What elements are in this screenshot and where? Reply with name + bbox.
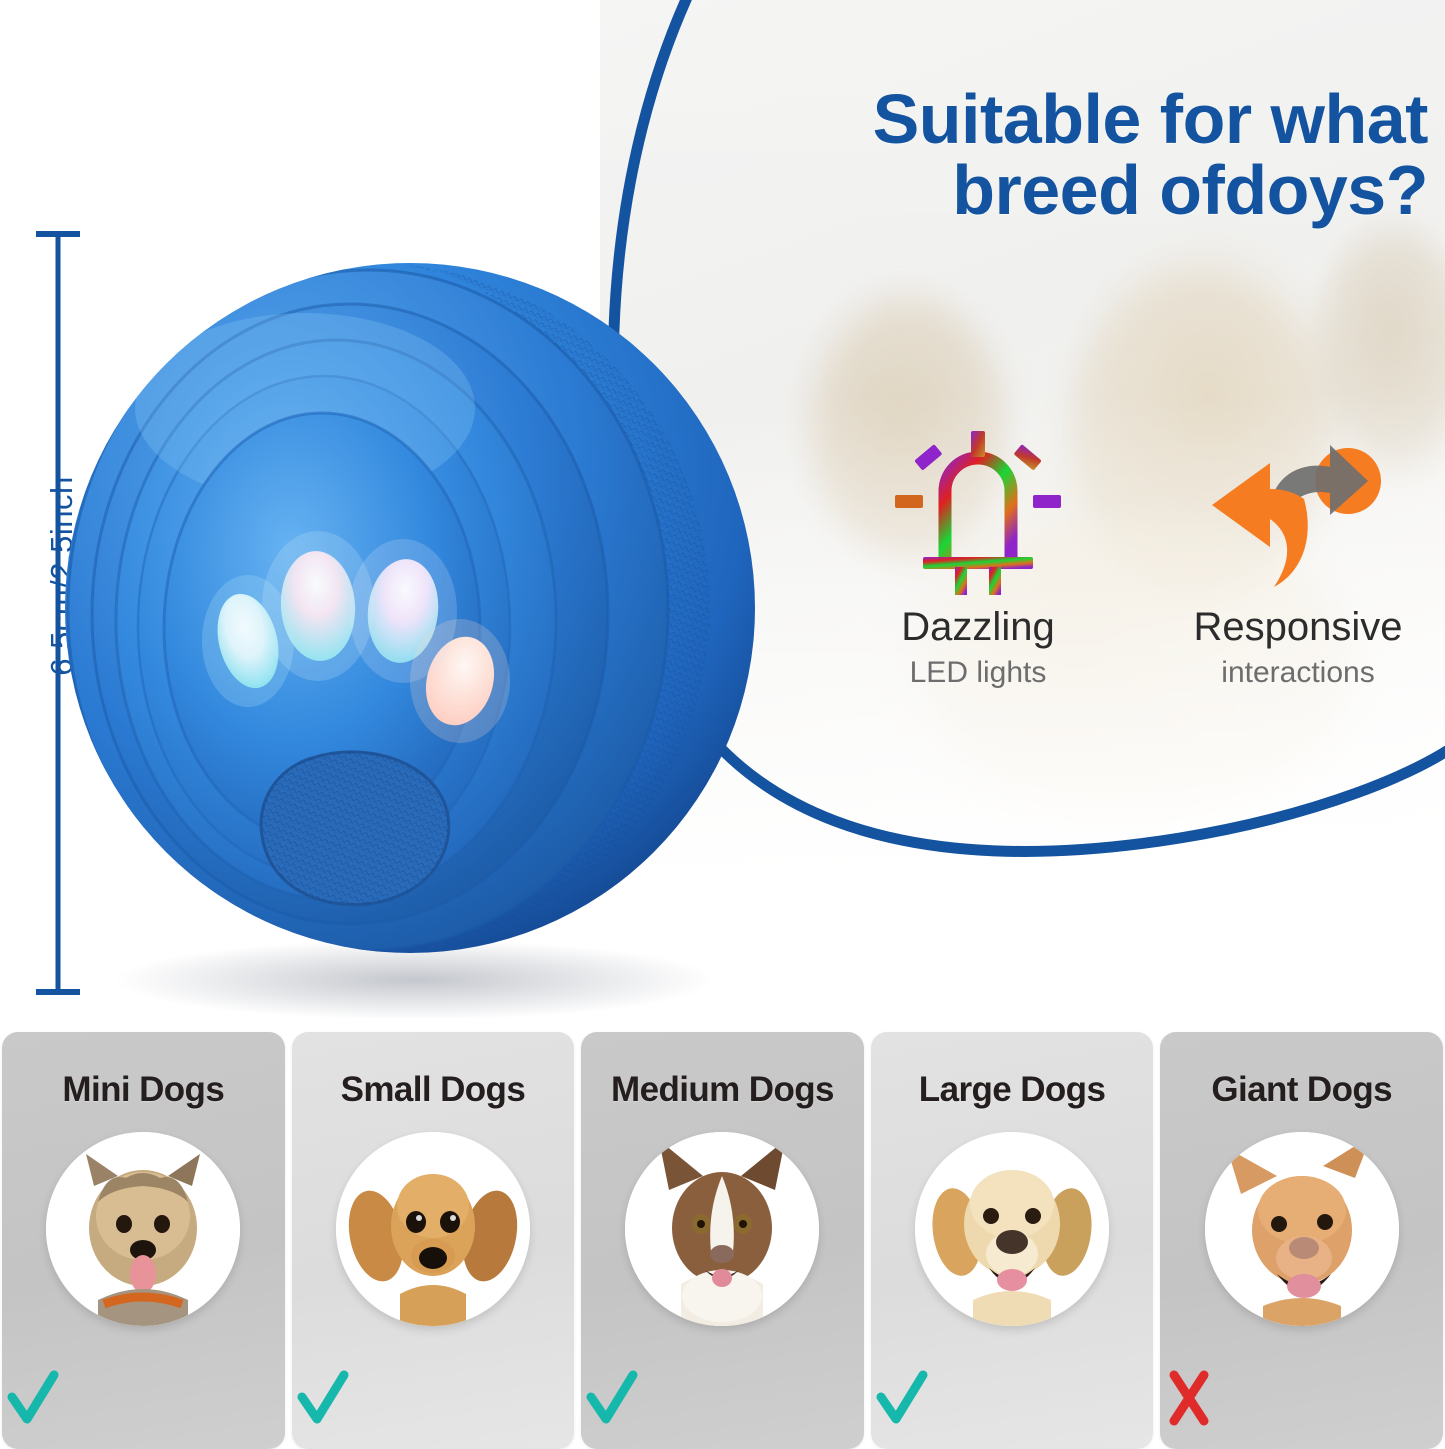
- check-icon: [2, 1369, 62, 1427]
- feature-dazzling: Dazzling LED lights: [848, 424, 1108, 690]
- page-title: Suitable for what breed ofdoys?: [716, 84, 1428, 227]
- card-title: Mini Dogs: [62, 1070, 224, 1110]
- feature-list: Dazzling LED lights Responsive interacti…: [848, 424, 1428, 714]
- feature-responsive: Responsive interactions: [1168, 424, 1428, 690]
- suitability-mark: [2, 1369, 285, 1427]
- check-icon: [581, 1369, 641, 1427]
- suitability-mark: [581, 1369, 864, 1427]
- breed-suitability-cards: Mini Dogs: [0, 1032, 1445, 1449]
- breed-card-medium[interactable]: Medium Dogs: [581, 1032, 864, 1449]
- card-title: Small Dogs: [341, 1070, 526, 1110]
- breed-card-giant[interactable]: Giant Dogs: [1160, 1032, 1443, 1449]
- card-title: Giant Dogs: [1211, 1070, 1392, 1110]
- product-image-ball: [50, 228, 780, 1018]
- check-icon: [292, 1369, 352, 1427]
- cross-icon: [1160, 1369, 1218, 1427]
- led-bulb-icon: [893, 424, 1063, 602]
- feature-subtitle: LED lights: [910, 656, 1047, 690]
- breed-card-small[interactable]: Small Dogs: [292, 1032, 575, 1449]
- dog-photo-pit-bull-terrier: [1205, 1132, 1399, 1326]
- breed-card-large[interactable]: Large Dogs: [871, 1032, 1154, 1449]
- breed-card-mini[interactable]: Mini Dogs: [2, 1032, 285, 1449]
- responsive-arrows-icon: [1208, 424, 1388, 602]
- suitability-mark: [292, 1369, 575, 1427]
- card-title: Large Dogs: [919, 1070, 1106, 1110]
- dog-photo-golden-retriever: [915, 1132, 1109, 1326]
- dog-photo-yorkshire-terrier: [46, 1132, 240, 1326]
- headline-line-1: Suitable for what: [873, 80, 1428, 158]
- feature-subtitle: interactions: [1221, 656, 1374, 690]
- hero-section: Suitable for what breed ofdoys? 6.5cm/2.…: [0, 0, 1445, 1028]
- check-icon: [871, 1369, 931, 1427]
- feature-title: Responsive: [1193, 606, 1402, 648]
- paw-pad-icon: [261, 752, 449, 905]
- dog-photo-dachshund: [336, 1132, 530, 1326]
- card-title: Medium Dogs: [611, 1070, 834, 1110]
- dog-photo-border-collie: [625, 1132, 819, 1326]
- suitability-mark: [871, 1369, 1154, 1427]
- feature-title: Dazzling: [901, 606, 1054, 648]
- headline-line-2: breed ofdoys?: [952, 151, 1428, 229]
- suitability-mark: [1160, 1369, 1443, 1427]
